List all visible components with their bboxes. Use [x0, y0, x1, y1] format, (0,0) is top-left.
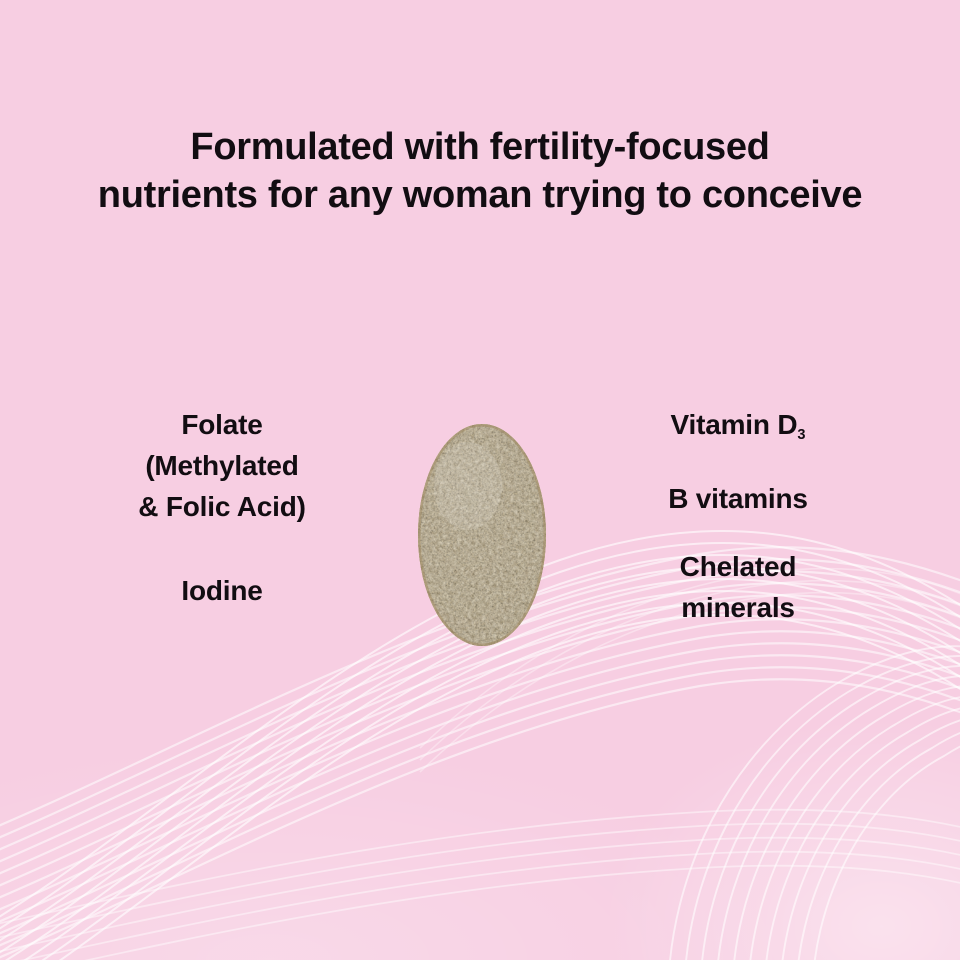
benefit-vitamin-d3-line-1: Vitamin D3: [588, 404, 888, 451]
poster-canvas: Formulated with fertility-focused nutrie…: [0, 0, 960, 960]
benefit-spacer: [588, 519, 888, 546]
benefit-spacer: [588, 451, 888, 478]
benefit-b-vitamins: B vitamins: [588, 478, 888, 519]
benefit-spacer: [72, 527, 372, 570]
benefit-folate: Folate (Methylated & Folic Acid): [72, 404, 372, 527]
tablet-body: [418, 424, 546, 646]
benefit-folate-line-2: (Methylated: [72, 445, 372, 486]
headline-line-1: Formulated with fertility-focused: [0, 123, 960, 171]
supplement-tablet: [418, 424, 546, 646]
benefit-iodine-line-1: Iodine: [72, 570, 372, 611]
benefits-column-right: Vitamin D3 B vitamins Chelated minerals: [588, 404, 888, 628]
page-title: Formulated with fertility-focused nutrie…: [0, 123, 960, 219]
benefit-vitamin-d3-subscript: 3: [797, 427, 805, 443]
benefit-vitamin-d3-label: Vitamin D: [671, 409, 798, 440]
benefit-chelated-minerals-line-1: Chelated: [588, 546, 888, 587]
benefit-chelated-minerals: Chelated minerals: [588, 546, 888, 628]
headline-line-2: nutrients for any woman trying to concei…: [0, 171, 960, 219]
benefit-iodine: Iodine: [72, 570, 372, 611]
benefit-vitamin-d3: Vitamin D3: [588, 404, 888, 451]
benefit-chelated-minerals-line-2: minerals: [588, 587, 888, 628]
benefits-column-left: Folate (Methylated & Folic Acid) Iodine: [72, 404, 372, 611]
benefit-b-vitamins-line-1: B vitamins: [588, 478, 888, 519]
benefit-folate-line-1: Folate: [72, 404, 372, 445]
benefit-folate-line-3: & Folic Acid): [72, 486, 372, 527]
